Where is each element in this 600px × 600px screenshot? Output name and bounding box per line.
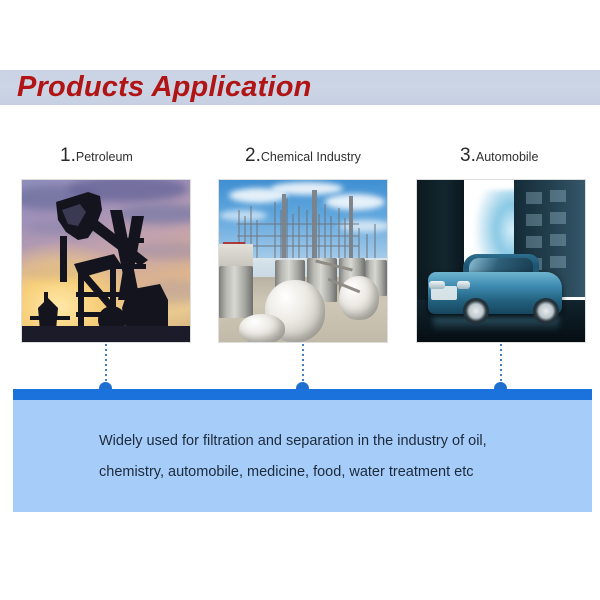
spherical-tank	[239, 314, 285, 342]
caption-label-3: Automobile	[476, 150, 539, 164]
caption-number-3: 3.	[460, 145, 476, 166]
caption-automobile: 3.Automobile	[460, 146, 538, 165]
description-panel: Widely used for filtration and separatio…	[13, 389, 592, 512]
connector-line-automobile	[500, 344, 502, 386]
pumpjack-silhouette	[22, 180, 190, 342]
oil-pumpjack-photo	[22, 180, 190, 342]
car-windshield	[469, 258, 533, 273]
description-panel-top-bar	[13, 389, 592, 400]
caption-label-1: Petroleum	[76, 150, 133, 164]
spherical-tank	[339, 276, 379, 320]
connector-line-chemical	[302, 344, 304, 386]
car-front-wheel	[463, 298, 489, 324]
building-window	[526, 236, 542, 248]
building-window	[550, 190, 566, 202]
oil-photo-inner	[22, 180, 190, 342]
caption-chemical-industry: 2.Chemical Industry	[245, 146, 361, 165]
description-line-1: Widely used for filtration and separatio…	[99, 426, 559, 457]
ground-silhouette	[22, 326, 190, 342]
car-rear-wheel	[533, 298, 559, 324]
building-window	[550, 234, 566, 246]
chemical-refinery-photo	[219, 180, 387, 342]
caption-label-2: Chemical Industry	[261, 150, 361, 164]
building-window	[550, 212, 566, 224]
storage-tank	[219, 266, 253, 318]
building-window	[526, 192, 542, 204]
connector-line-petroleum	[105, 344, 107, 386]
car-headlight	[429, 281, 445, 289]
car-headlight	[457, 281, 470, 289]
building-window	[526, 214, 542, 226]
car-photo-inner	[417, 180, 585, 342]
page-title: Products Application	[17, 69, 312, 106]
caption-number-2: 2.	[245, 145, 261, 166]
refinery-photo-inner	[219, 180, 387, 342]
building-window	[550, 256, 566, 268]
blue-car-photo	[417, 180, 585, 342]
description-text: Widely used for filtration and separatio…	[99, 426, 559, 488]
description-line-2: chemistry, automobile, medicine, food, w…	[99, 457, 559, 488]
caption-number-1: 1.	[60, 145, 76, 166]
caption-petroleum: 1.Petroleum	[60, 146, 133, 165]
